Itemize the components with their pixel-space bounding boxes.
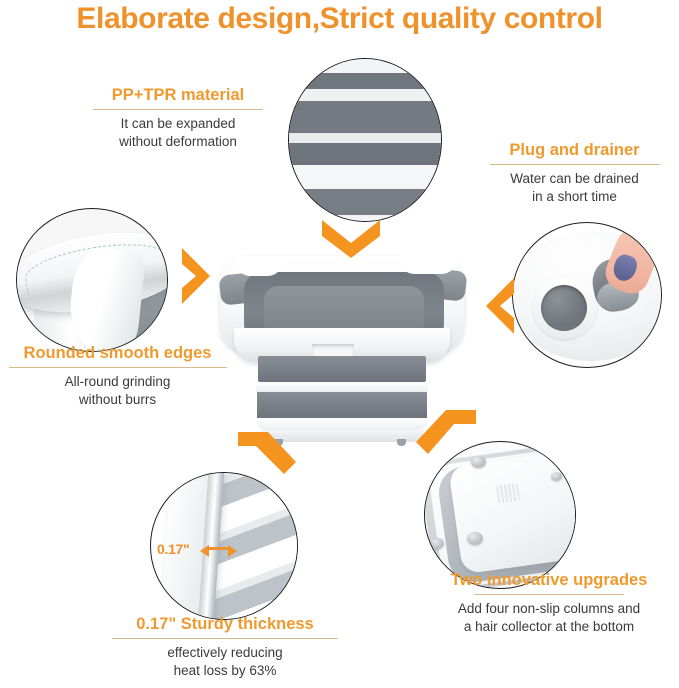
- rim-notch-left: [236, 256, 282, 276]
- basket-band-white: [256, 382, 428, 392]
- non-slip-column: [431, 538, 444, 549]
- basket-band-gray: [258, 356, 426, 382]
- stripe-texture: [288, 58, 442, 222]
- hair-collector: [496, 483, 520, 504]
- feature-material-heading: PP+TPR material: [78, 86, 278, 105]
- arrow-left-to-product: [482, 276, 518, 338]
- divider: [93, 109, 263, 110]
- feature-material-description: It can be expanded without deformation: [78, 115, 278, 151]
- feature-upgrades-description: Add four non-slip columns and a hair col…: [424, 600, 674, 636]
- feature-upgrades: Two innovative upgrades Add four non-sli…: [424, 571, 674, 636]
- arrow-down-left-to-thickness: [236, 418, 312, 478]
- thickness-striped-face: [213, 472, 298, 620]
- feature-upgrades-heading: Two innovative upgrades: [424, 571, 674, 590]
- rounded-edge-closeup: [16, 208, 168, 352]
- feature-plug: Plug and drainer Water can be drained in…: [482, 141, 667, 206]
- feature-thickness-description: effectively reducing heat loss by 63%: [100, 644, 350, 680]
- arrow-down-to-product: [318, 216, 384, 258]
- base-plate: [448, 450, 576, 575]
- bottom-underside-closeup: [424, 441, 576, 589]
- feature-edges-heading: Rounded smooth edges: [0, 344, 235, 363]
- divider: [112, 638, 338, 639]
- divider: [9, 367, 227, 368]
- wall-thickness-closeup: 0.17": [150, 472, 298, 620]
- striped-material-closeup: [288, 58, 442, 222]
- page-title: Elaborate design,Strict quality control: [0, 2, 679, 36]
- non-slip-column: [467, 532, 483, 545]
- thickness-callout-value: 0.17": [157, 541, 189, 557]
- non-slip-column: [551, 472, 562, 481]
- arrow-up-left-from-upgrades: [402, 398, 478, 458]
- divider: [474, 594, 624, 595]
- feature-thickness-heading: 0.17" Sturdy thickness: [100, 615, 350, 634]
- drain-hole: [541, 285, 587, 331]
- rim-notch-right: [400, 254, 456, 274]
- product-infographic: Elaborate design,Strict quality control: [0, 0, 679, 688]
- feature-thickness: 0.17" Sturdy thickness effectively reduc…: [100, 615, 350, 680]
- thickness-measure-arrow: [207, 547, 229, 550]
- feature-plug-description: Water can be drained in a short time: [482, 170, 667, 206]
- feature-plug-heading: Plug and drainer: [482, 141, 667, 160]
- feature-material: PP+TPR material It can be expanded witho…: [78, 86, 278, 151]
- drain-plug-closeup: [512, 222, 662, 368]
- feature-edges: Rounded smooth edges All-round grinding …: [0, 344, 235, 409]
- feature-edges-description: All-round grinding without burrs: [0, 373, 235, 409]
- divider: [490, 164, 660, 165]
- arrow-right-to-product: [178, 246, 214, 308]
